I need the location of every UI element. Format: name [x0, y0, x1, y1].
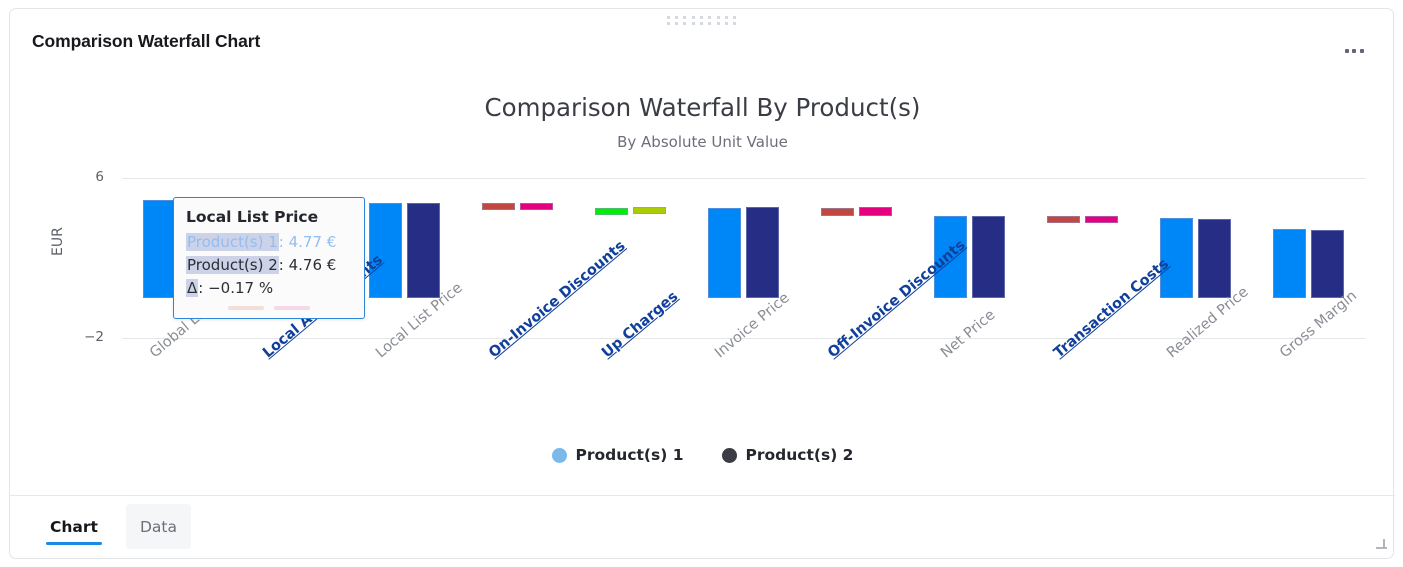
chart-card-panel: Comparison Waterfall Chart Comparison Wa… — [9, 8, 1394, 559]
chart-bar[interactable] — [1311, 230, 1344, 298]
legend-label-product-2: Product(s) 2 — [746, 446, 854, 464]
tooltip-title: Local List Price — [186, 208, 352, 226]
chart-bar[interactable] — [1273, 229, 1306, 298]
resize-corner-icon[interactable] — [1374, 539, 1387, 552]
legend-dot-product-1 — [552, 448, 567, 463]
tooltip-delta-sep: : — [198, 279, 208, 297]
legend-item-product-1[interactable]: Product(s) 1 — [552, 446, 684, 464]
screen: Comparison Waterfall Chart Comparison Wa… — [0, 0, 1403, 567]
tooltip-delta-row: Δ: −0.17 % — [186, 277, 352, 300]
tooltip-series-1-value-sep: : — [279, 233, 289, 251]
tooltip-delta-label: Δ — [186, 279, 198, 297]
chart-legend: Product(s) 1 Product(s) 2 — [10, 446, 1395, 464]
ellipsis-icon[interactable] — [1337, 39, 1371, 63]
tooltip-swatch-2 — [274, 306, 310, 310]
tooltip-series-2-value-sep: : — [279, 256, 289, 274]
tooltip-delta-value: −0.17 % — [208, 279, 273, 297]
card-tabbar: Chart Data — [10, 495, 1395, 558]
y-axis-label: EUR — [50, 227, 66, 256]
legend-dot-product-2 — [722, 448, 737, 463]
tooltip-series-1-row: Product(s) 1: 4.77 € — [186, 231, 352, 254]
drag-dots-icon[interactable] — [666, 13, 738, 28]
legend-item-product-2[interactable]: Product(s) 2 — [722, 446, 854, 464]
chart-tooltip: Local List Price Product(s) 1: 4.77 € Pr… — [173, 197, 365, 319]
tooltip-series-2-row: Product(s) 2: 4.76 € — [186, 254, 352, 277]
chart-canvas: Comparison Waterfall By Product(s) By Ab… — [10, 71, 1395, 496]
tooltip-series-1-value: 4.77 € — [289, 233, 337, 251]
legend-label-product-1: Product(s) 1 — [576, 446, 684, 464]
y-axis-tick: −2 — [64, 329, 104, 345]
card-title: Comparison Waterfall Chart — [32, 31, 260, 52]
tooltip-swatches — [186, 306, 352, 310]
tooltip-series-2-label: Product(s) 2 — [186, 256, 279, 274]
tooltip-swatch-1 — [228, 306, 264, 310]
tab-chart[interactable]: Chart — [40, 504, 108, 549]
tab-data[interactable]: Data — [126, 504, 191, 549]
tooltip-series-2-value: 4.76 € — [289, 256, 337, 274]
tooltip-series-1-label: Product(s) 1 — [186, 233, 279, 251]
